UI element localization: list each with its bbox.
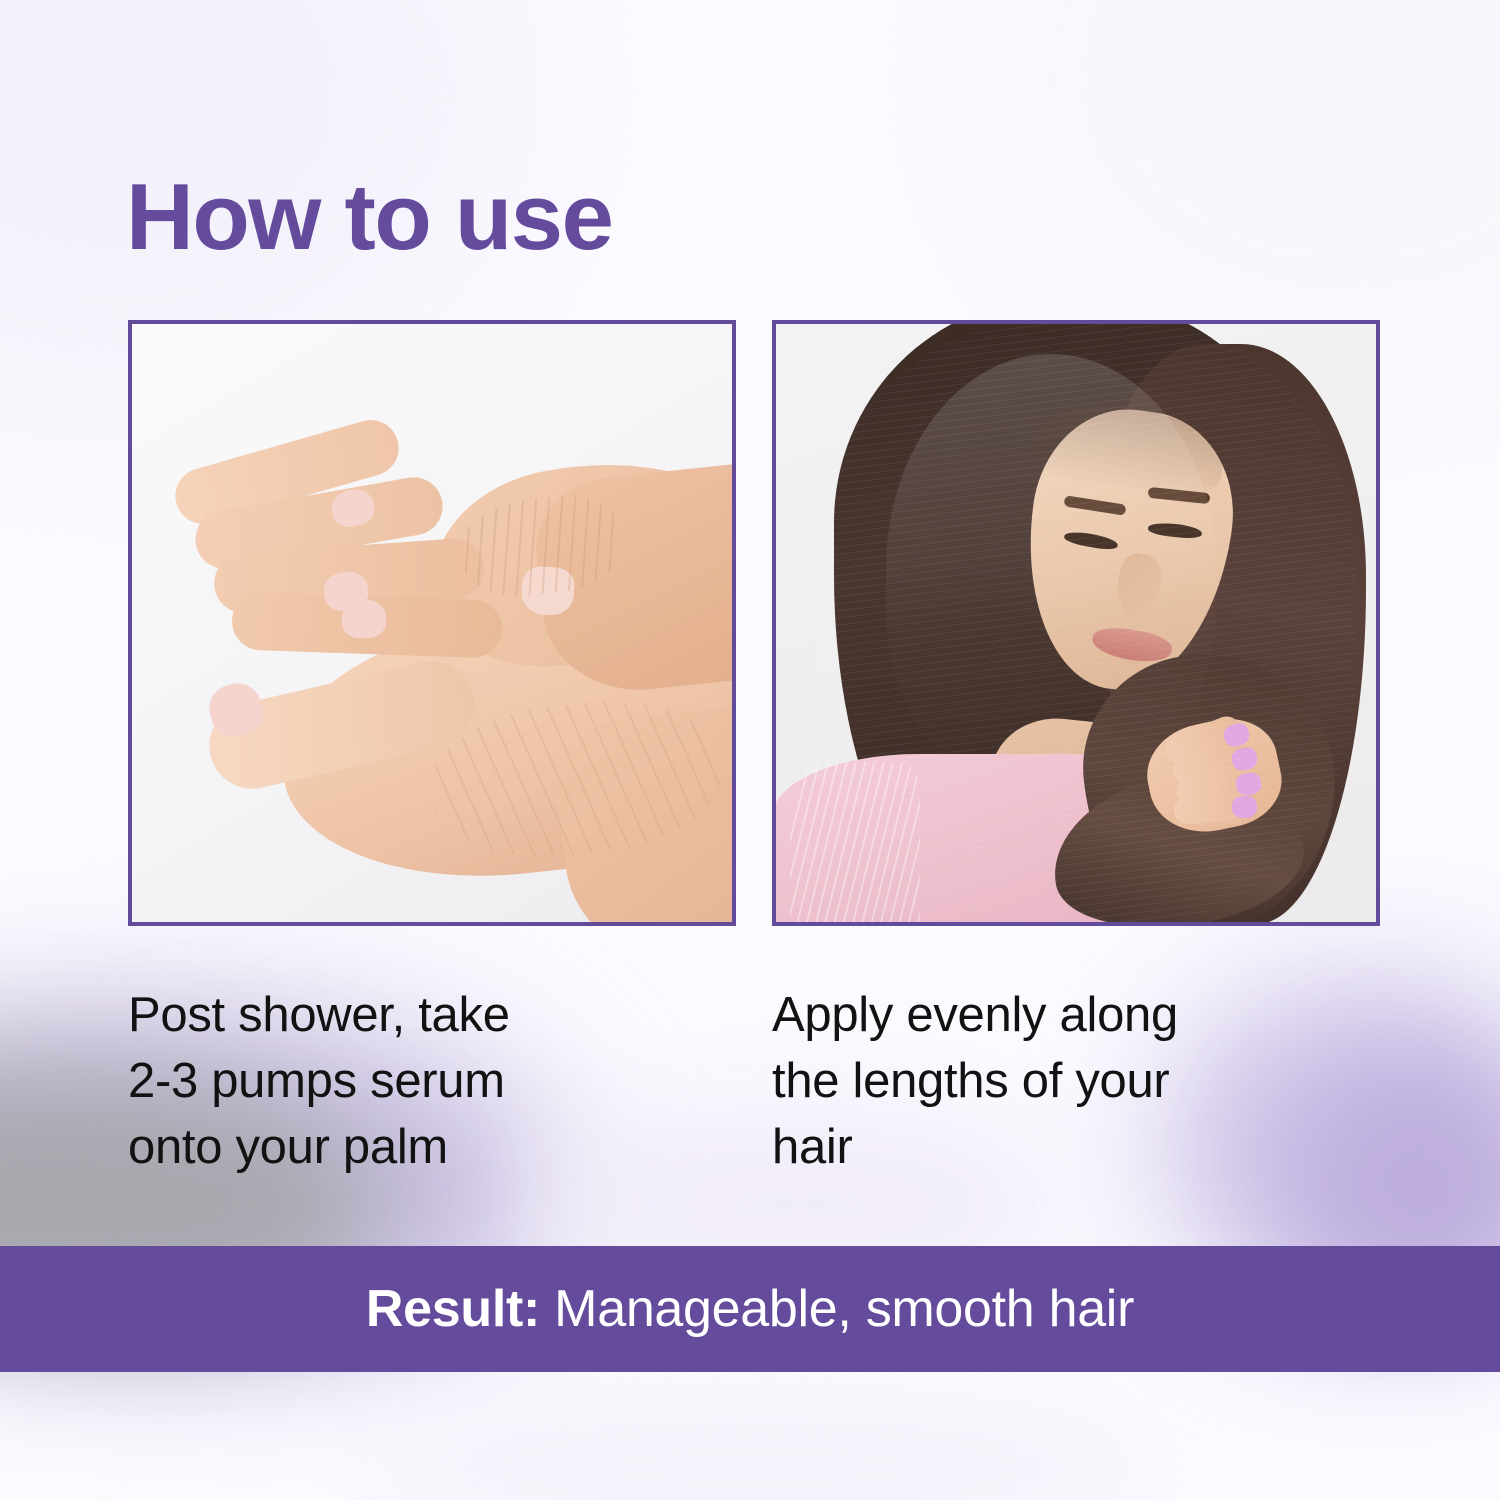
result-banner: Result: Manageable, smooth hair [0,1246,1500,1372]
hands-with-serum-image [132,324,732,922]
step-1-caption: Post shower, take 2-3 pumps serum onto y… [128,982,736,1180]
step-card-1: Post shower, take 2-3 pumps serum onto y… [128,320,736,1180]
fingernail-3 [341,599,386,639]
result-banner-text: Result: Manageable, smooth hair [366,1279,1134,1339]
result-label: Result: [366,1280,540,1338]
how-to-use-infographic: How to use [0,0,1500,1500]
step-1-photo-frame [128,320,736,926]
step-2-photo-frame [772,320,1380,926]
hair-flyaway-strands [816,324,1356,924]
step-card-2: Apply evenly along the lengths of your h… [772,320,1380,1180]
step-2-caption: Apply evenly along the lengths of your h… [772,982,1380,1180]
result-value: Manageable, smooth hair [540,1280,1134,1338]
woman-applying-serum-image [776,324,1376,922]
